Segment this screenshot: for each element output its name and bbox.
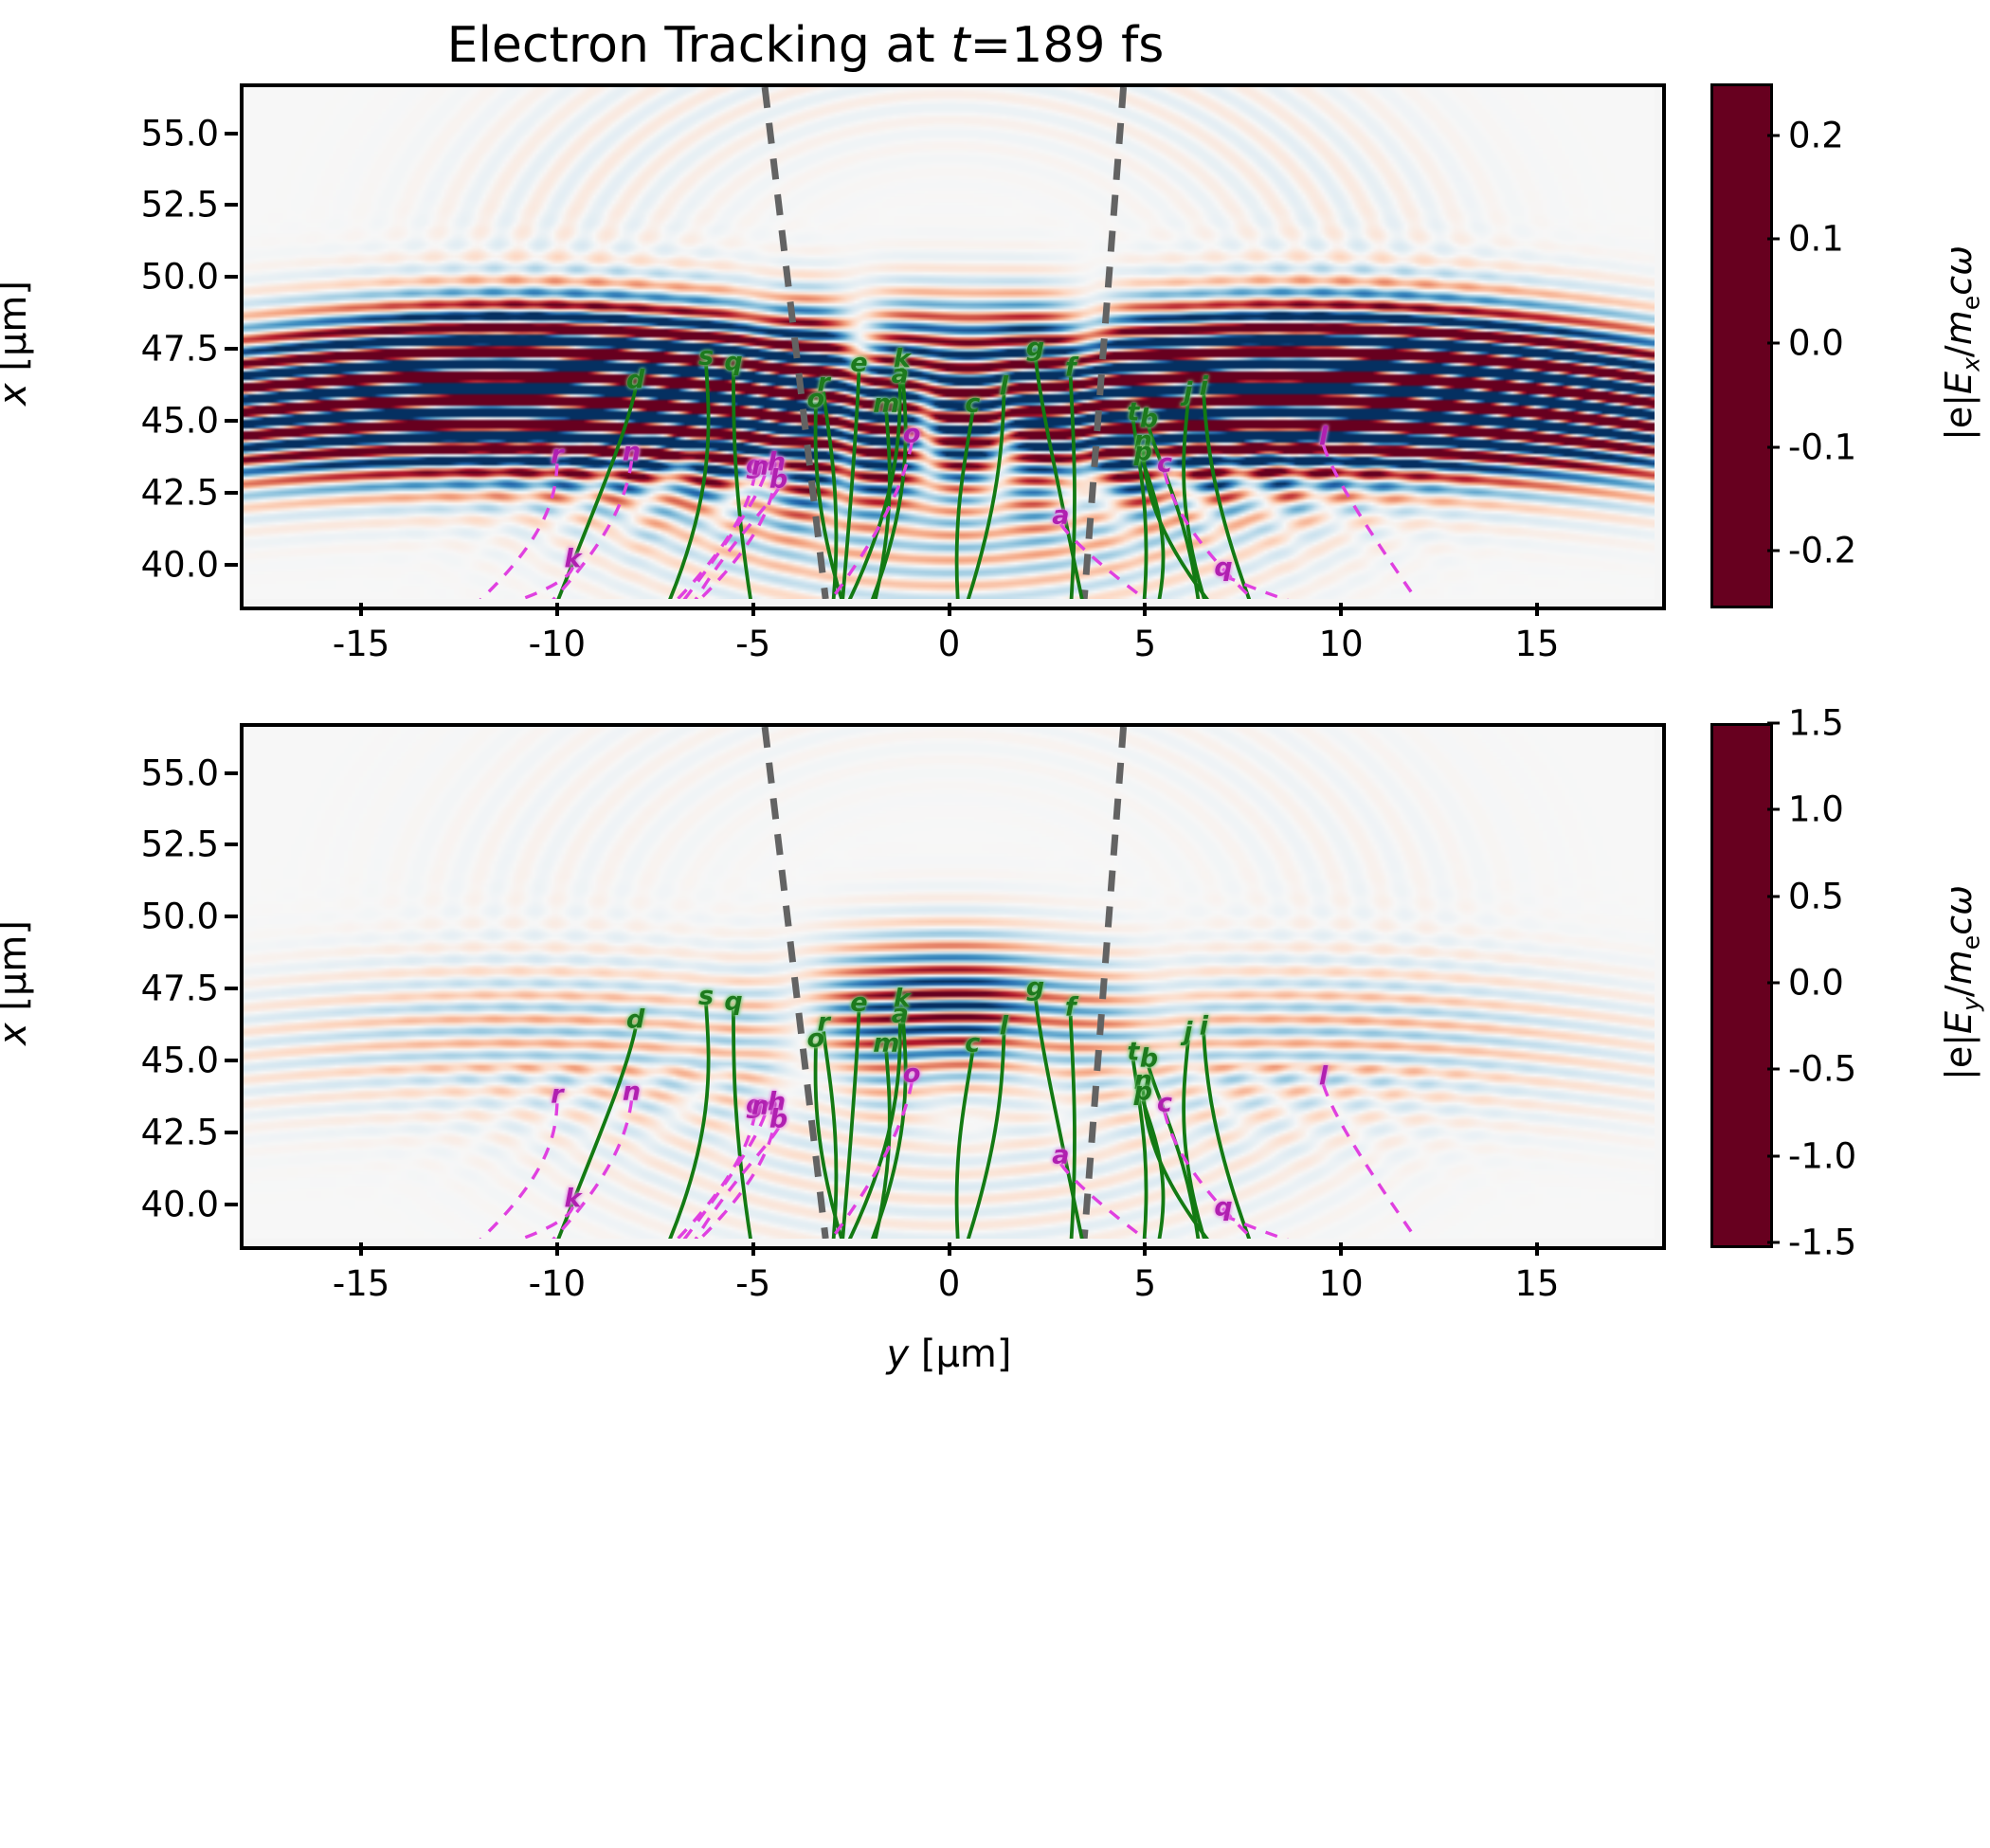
x-tick-label: 0 (938, 624, 961, 664)
title-variable: t (950, 17, 969, 74)
y-tick-mark (225, 203, 238, 207)
y-tick-mark (225, 1131, 238, 1134)
x-tick-label: 5 (1134, 624, 1157, 664)
x-tick-mark (1339, 603, 1343, 616)
y-tick-mark (225, 132, 238, 136)
x-tick-mark (359, 1242, 363, 1256)
colorbar-ex (1710, 83, 1773, 608)
colorbar-tick-mark (1767, 238, 1780, 241)
y-tick-label: 52.5 (50, 185, 219, 226)
y-axis-label: x [μm] (0, 920, 35, 1045)
y-tick-label: 45.0 (50, 1040, 219, 1080)
field-canvas-ey (244, 727, 1655, 1239)
page-title: Electron Tracking at t=189 fs (0, 17, 1611, 74)
colorbar-tick-label: 1.5 (1788, 703, 1844, 744)
x-tick-label: 15 (1514, 624, 1559, 664)
y-tick-mark (225, 915, 238, 918)
colorbar-tick-mark (1767, 808, 1780, 811)
x-axis-label: y [μm] (886, 1332, 1011, 1376)
y-tick-label: 40.0 (50, 544, 219, 585)
x-tick-label: -10 (529, 1263, 586, 1304)
colorbar-tick-label: 0.5 (1788, 876, 1844, 916)
x-tick-mark (555, 1242, 559, 1256)
field-map-ex (244, 87, 1662, 607)
field-canvas-ex (244, 87, 1655, 599)
colorbar-tick-mark (1767, 445, 1780, 448)
colorbar-axis-label: |e|Ex/mecω (1938, 245, 1985, 441)
field-map-ey (244, 727, 1662, 1246)
title-prefix: Electron Tracking at (447, 17, 951, 74)
y-tick-label: 47.5 (50, 969, 219, 1009)
panel-Ey (240, 723, 1666, 1250)
x-tick-label: -5 (735, 1263, 770, 1304)
y-tick-mark (225, 987, 238, 990)
field-image (244, 87, 1655, 599)
y-tick-label: 50.0 (50, 257, 219, 298)
x-tick-mark (359, 603, 363, 616)
panel-Ex (240, 83, 1666, 610)
x-tick-label: -15 (333, 1263, 389, 1304)
figure-root: Electron Tracking at t=189 fs 0.20.10.0-… (0, 0, 1990, 1848)
colorbar-tick-label: 0.0 (1788, 963, 1844, 1004)
y-tick-mark (225, 347, 238, 351)
colorbar-tick-label: -0.1 (1788, 426, 1856, 467)
x-tick-mark (555, 603, 559, 616)
x-tick-mark (1339, 1242, 1343, 1256)
x-tick-mark (948, 1242, 951, 1256)
y-tick-mark (225, 771, 238, 775)
x-tick-label: 10 (1319, 1263, 1364, 1304)
colorbar-ey (1710, 723, 1773, 1248)
colorbar-tick-label: -0.2 (1788, 531, 1856, 571)
x-tick-label: 10 (1319, 624, 1364, 664)
colorbar-tick-mark (1767, 1241, 1780, 1244)
x-tick-mark (1535, 1242, 1539, 1256)
colorbar-tick-mark (1767, 342, 1780, 345)
colorbar-tick-label: 1.0 (1788, 789, 1844, 830)
colorbar-tick-mark (1767, 550, 1780, 553)
y-tick-mark (225, 842, 238, 846)
y-tick-label: 55.0 (50, 752, 219, 793)
colorbar-tick-mark (1767, 982, 1780, 985)
y-tick-mark (225, 419, 238, 423)
x-tick-label: -5 (735, 624, 770, 664)
colorbar-tick-mark (1767, 722, 1780, 725)
x-tick-label: 15 (1514, 1263, 1559, 1304)
y-tick-label: 52.5 (50, 824, 219, 865)
x-tick-mark (948, 603, 951, 616)
y-tick-label: 42.5 (50, 472, 219, 513)
y-tick-label: 47.5 (50, 329, 219, 370)
colorbar-tick-label: 0.1 (1788, 219, 1844, 260)
colorbar-tick-label: 0.2 (1788, 115, 1844, 155)
x-tick-label: 0 (938, 1263, 961, 1304)
title-value: =189 fs (970, 17, 1165, 74)
y-tick-label: 50.0 (50, 897, 219, 937)
x-tick-mark (751, 603, 755, 616)
y-tick-label: 42.5 (50, 1112, 219, 1152)
colorbar-tick-mark (1767, 134, 1780, 136)
colorbar-tick-mark (1767, 1068, 1780, 1071)
y-tick-mark (225, 1203, 238, 1206)
x-tick-label: -15 (333, 624, 389, 664)
y-tick-label: 45.0 (50, 400, 219, 441)
y-tick-mark (225, 491, 238, 495)
colorbar-tick-label: -1.5 (1788, 1223, 1856, 1263)
colorbar-tick-mark (1767, 1154, 1780, 1157)
colorbar-axis-label: |e|Ey/mecω (1938, 885, 1985, 1080)
x-tick-label: 5 (1134, 1263, 1157, 1304)
x-tick-mark (1143, 603, 1147, 616)
x-tick-label: -10 (529, 624, 586, 664)
colorbar-tick-label: -0.5 (1788, 1049, 1856, 1090)
x-tick-mark (751, 1242, 755, 1256)
y-tick-mark (225, 563, 238, 567)
colorbar-tick-label: -1.0 (1788, 1135, 1856, 1176)
x-tick-mark (1143, 1242, 1147, 1256)
y-axis-label: x [μm] (0, 281, 35, 406)
y-tick-label: 40.0 (50, 1184, 219, 1224)
colorbar-tick-mark (1767, 895, 1780, 897)
colorbar-tick-label: 0.0 (1788, 323, 1844, 364)
y-tick-label: 55.0 (50, 113, 219, 154)
y-tick-mark (225, 275, 238, 279)
x-tick-mark (1535, 603, 1539, 616)
y-tick-mark (225, 1059, 238, 1062)
field-image (244, 727, 1655, 1239)
